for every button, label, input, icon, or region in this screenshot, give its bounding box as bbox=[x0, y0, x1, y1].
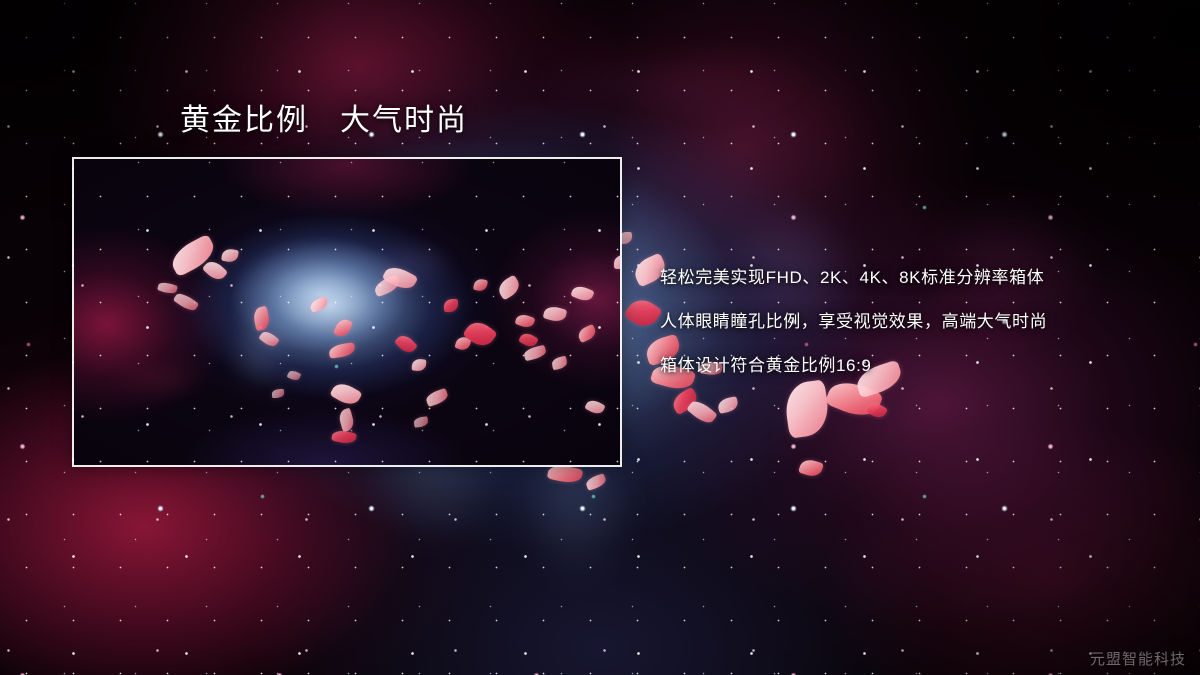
page-title: 黄金比例 大气时尚 bbox=[180, 102, 468, 140]
body-line: 轻松完美实现FHD、2K、4K、8K标准分辨率箱体 bbox=[660, 256, 1180, 300]
slide-canvas: 黄金比例 大气时尚 轻松完美实现FHD、2K、4K、8K标准分辨率箱体 人体眼睛… bbox=[0, 0, 1200, 675]
body-line: 箱体设计符合黄金比例16:9 bbox=[660, 344, 1180, 388]
watermark: 元盟智能科技 bbox=[1090, 648, 1186, 669]
display-preview-frame[interactable] bbox=[72, 157, 622, 467]
body-line: 人体眼睛瞳孔比例，享受视觉效果，高端大气时尚 bbox=[660, 300, 1180, 344]
body-copy-block: 轻松完美实现FHD、2K、4K、8K标准分辨率箱体 人体眼睛瞳孔比例，享受视觉效… bbox=[660, 256, 1180, 388]
preview-content bbox=[74, 159, 620, 465]
